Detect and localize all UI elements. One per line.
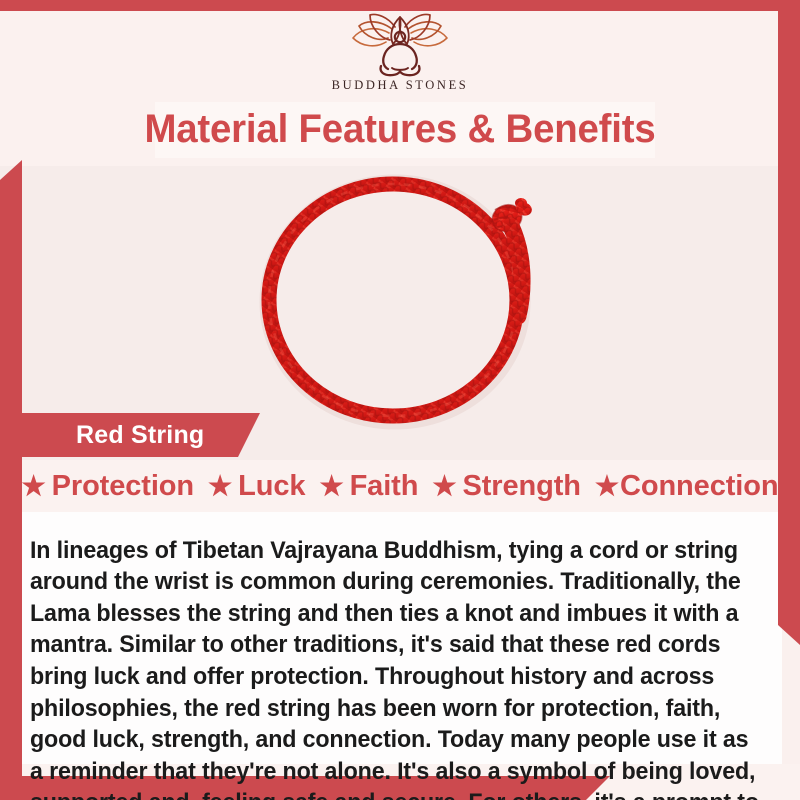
brand-wordmark: BUDDHA STONES [332,78,469,93]
product-image-area [22,166,778,426]
star-icon: ★ [432,473,456,500]
product-name-banner: Red String [22,413,260,457]
star-icon: ★ [208,473,232,500]
benefit-item-strength: ★Strength [432,470,581,503]
star-icon: ★ [595,473,619,500]
brand-header: BUDDHA STONES [0,11,800,103]
benefit-item-faith: ★Faith [319,470,418,503]
benefit-item-connection: ★Connection [595,470,779,503]
lotus-meditation-logo-icon [348,11,452,77]
benefit-label-luck: Luck [238,470,305,503]
benefit-item-protection: ★Protection [22,470,195,503]
red-braided-string-bracelet-icon [235,166,565,434]
benefits-row: ★Protection ★Luck ★Faith ★Strength ★Conn… [22,464,778,508]
product-name-label: Red String [76,421,204,450]
benefit-label-strength: Strength [462,470,580,503]
benefit-label-protection: Protection [52,470,194,503]
frame-bar-top [0,0,800,11]
page-title: Material Features & Benefits [16,100,784,158]
frame-bar-left [0,160,22,800]
benefit-item-luck: ★Luck [208,470,305,503]
star-icon: ★ [22,473,46,500]
infographic-card: BUDDHA STONES Material Features & Benefi… [0,0,800,800]
benefit-label-faith: Faith [350,470,419,503]
product-description: In lineages of Tibetan Vajrayana Buddhis… [30,536,767,800]
star-icon: ★ [319,473,343,500]
benefit-label-connection: Connection [620,470,779,503]
